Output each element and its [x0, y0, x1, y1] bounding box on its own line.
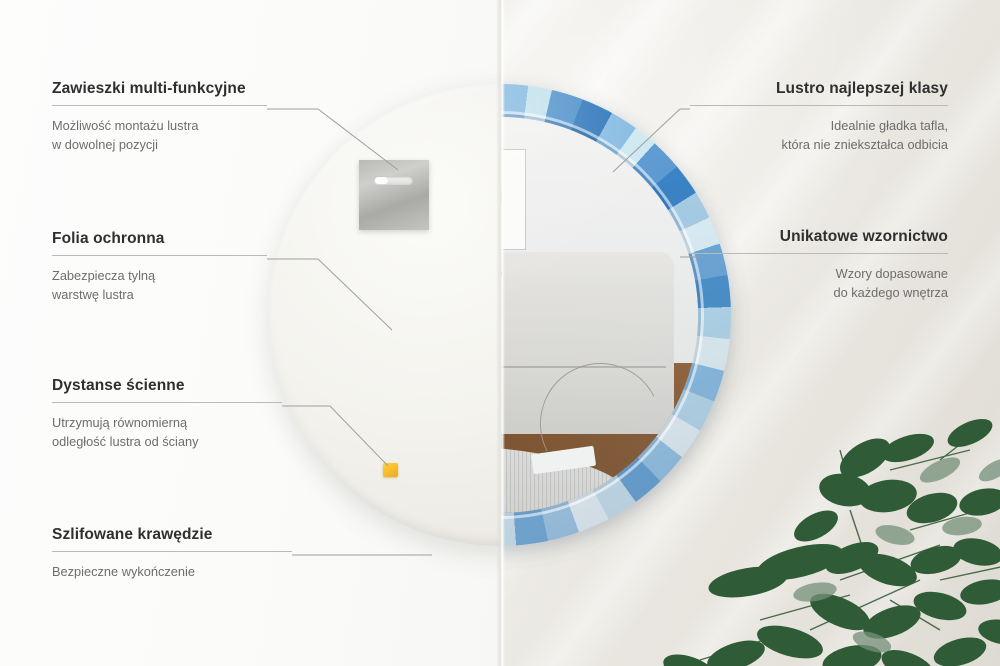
callout-description: Możliwość montażu lustra w dowolnej pozy…	[52, 117, 267, 154]
callout-rule	[52, 402, 282, 403]
callout-rule	[52, 255, 267, 256]
callout-rule	[690, 253, 948, 254]
callout-description: Bezpieczne wykończenie	[52, 563, 292, 582]
wall-spacer	[383, 463, 398, 477]
callout-title: Folia ochronna	[52, 230, 267, 248]
callout-left-3: Dystanse ścienne Utrzymują równomierną o…	[52, 377, 282, 451]
callout-left-4: Szlifowane krawędzie Bezpieczne wykończe…	[52, 526, 292, 582]
panel-split-edge	[496, 0, 505, 666]
callout-rule	[690, 105, 948, 106]
callout-description: Idealnie gładka tafla, która nie znieksz…	[690, 117, 948, 154]
callout-title: Zawieszki multi-funkcyjne	[52, 80, 267, 98]
infographic-canvas: Zawieszki multi-funkcyjne Możliwość mont…	[0, 0, 1000, 666]
plant-decoration	[640, 330, 1000, 666]
callout-title: Unikatowe wzornictwo	[690, 228, 948, 246]
callout-left-2: Folia ochronna Zabezpiecza tylną warstwę…	[52, 230, 267, 304]
callout-right-1: Lustro najlepszej klasy Idealnie gładka …	[690, 80, 948, 154]
callout-left-1: Zawieszki multi-funkcyjne Możliwość mont…	[52, 80, 267, 154]
hanger-keyhole-slot	[373, 176, 413, 185]
callout-title: Dystanse ścienne	[52, 377, 282, 395]
callout-title: Lustro najlepszej klasy	[690, 80, 948, 98]
callout-description: Utrzymują równomierną odległość lustra o…	[52, 414, 282, 451]
hanger-plate	[359, 160, 429, 230]
callout-description: Zabezpiecza tylną warstwę lustra	[52, 267, 267, 304]
callout-rule	[52, 105, 267, 106]
callout-title: Szlifowane krawędzie	[52, 526, 292, 544]
callout-rule	[52, 551, 292, 552]
callout-right-2: Unikatowe wzornictwo Wzory dopasowane do…	[690, 228, 948, 302]
callout-description: Wzory dopasowane do każdego wnętrza	[690, 265, 948, 302]
